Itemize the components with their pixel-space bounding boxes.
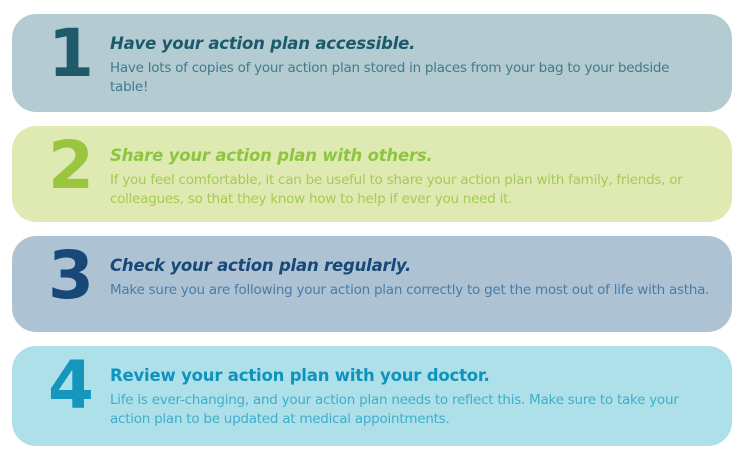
tip-content-2: Share your action plan with others. If y… <box>110 138 714 210</box>
tip-text-1: Have lots of copies of your action plan … <box>110 59 710 98</box>
tip-card-4: 4 Review your action plan with your doct… <box>12 346 732 446</box>
tip-card-1: 1 Have your action plan accessible. Have… <box>12 14 732 112</box>
tip-content-3: Check your action plan regularly. Make s… <box>110 248 714 300</box>
tip-text-4: Life is ever-changing, and your action p… <box>110 391 710 430</box>
tip-card-2: 2 Share your action plan with others. If… <box>12 126 732 222</box>
tip-heading-2: Share your action plan with others. <box>110 146 710 167</box>
tip-number-3: 3 <box>32 246 110 307</box>
tip-text-3: Make sure you are following your action … <box>110 281 710 301</box>
tip-heading-4: Review your action plan with your doctor… <box>110 366 710 387</box>
tips-list: 1 Have your action plan accessible. Have… <box>0 0 744 459</box>
tip-content-4: Review your action plan with your doctor… <box>110 358 714 430</box>
tip-number-4: 4 <box>32 356 110 417</box>
tip-number-1: 1 <box>32 24 110 85</box>
tip-text-2: If you feel comfortable, it can be usefu… <box>110 171 710 210</box>
tip-content-1: Have your action plan accessible. Have l… <box>110 26 714 98</box>
tip-number-2: 2 <box>32 136 110 197</box>
tip-heading-1: Have your action plan accessible. <box>110 34 710 55</box>
tip-card-3: 3 Check your action plan regularly. Make… <box>12 236 732 332</box>
tip-heading-3: Check your action plan regularly. <box>110 256 710 277</box>
